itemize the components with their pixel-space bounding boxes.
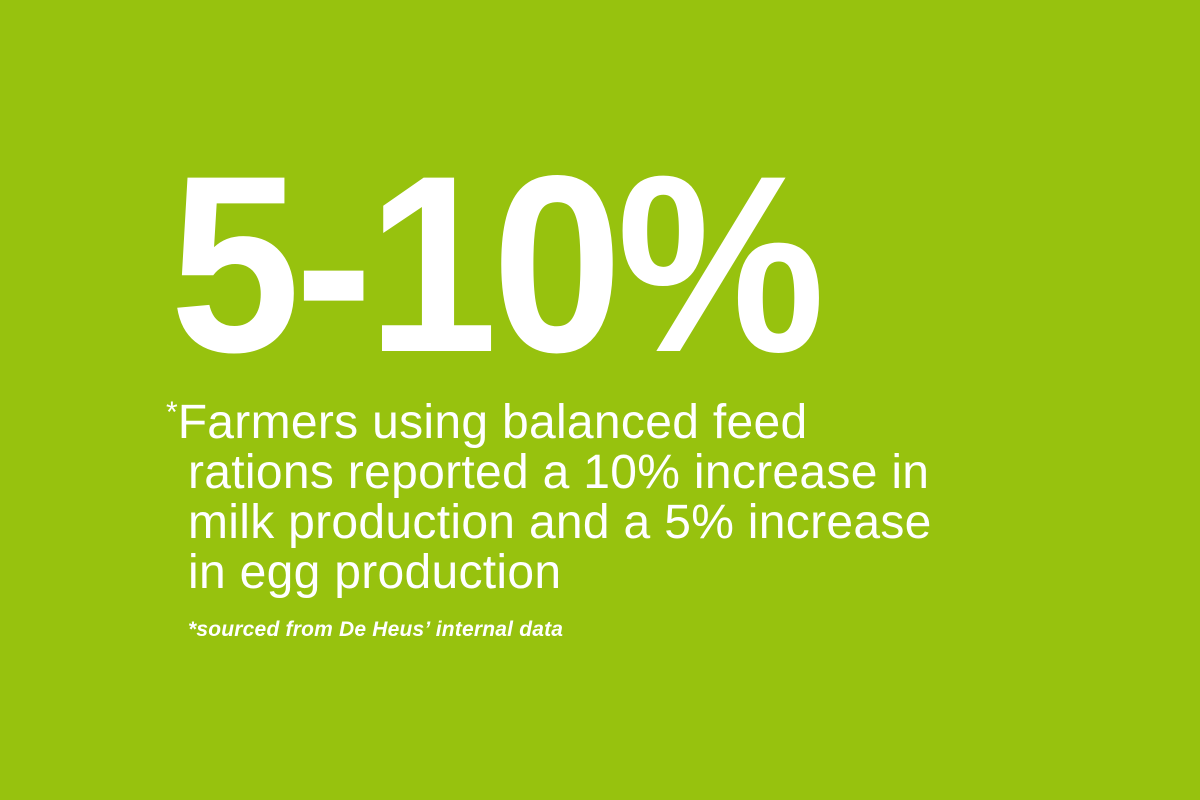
body-line-3: milk production and a 5% increase — [188, 498, 1176, 548]
body-line-1-text: Farmers using balanced feed — [178, 396, 808, 449]
asterisk-marker: * — [166, 396, 178, 429]
stat-callout-slide: 5-10% *Farmers using balanced feed ratio… — [0, 0, 1200, 800]
body-line-2: rations reported a 10% increase in — [188, 448, 1176, 498]
body-line-1: *Farmers using balanced feed — [166, 398, 1176, 448]
body-paragraph: *Farmers using balanced feed rations rep… — [166, 398, 1176, 598]
source-footnote: *sourced from De Heus’ internal data — [188, 617, 563, 643]
headline-stat: 5-10% — [170, 150, 1081, 380]
body-line-4: in egg production — [188, 548, 1176, 598]
